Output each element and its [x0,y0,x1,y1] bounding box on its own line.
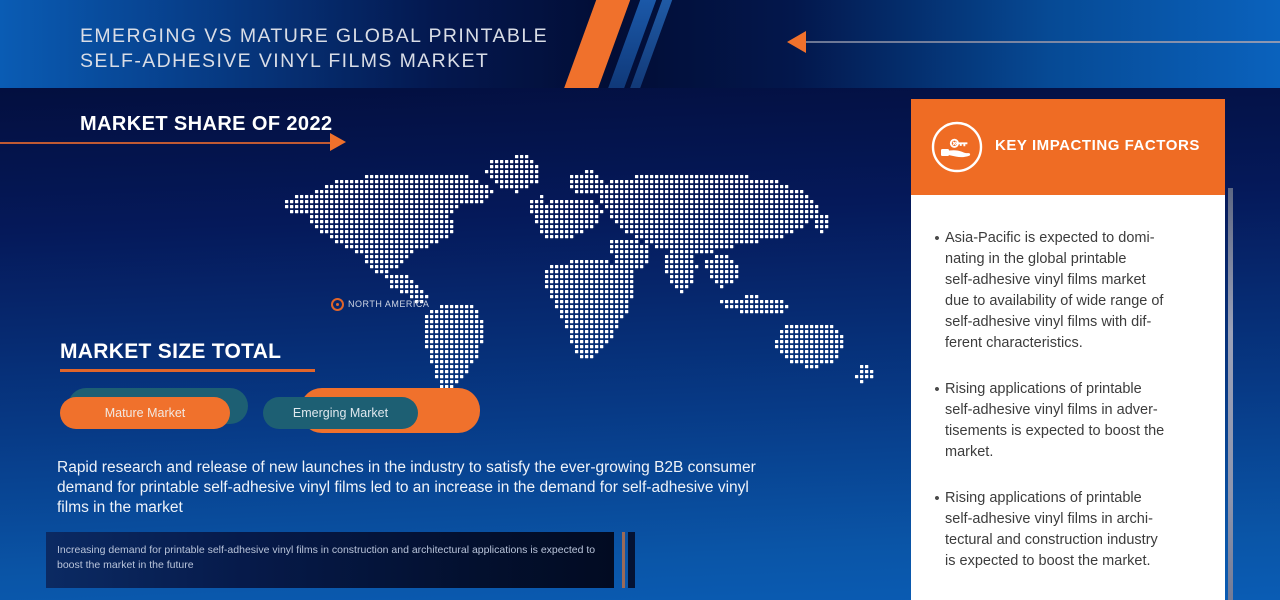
market-share-title: MARKET SHARE OF 2022 [80,113,333,136]
list-item-text: Rising applications of printable self-ad… [945,379,1205,463]
caption-edge-block [628,532,635,588]
world-map [278,148,888,398]
hand-holding-key-icon [930,120,984,174]
caption-text: Increasing demand for printable self-adh… [57,543,602,573]
key-factors-panel: • Asia-Pacific is expected to domi- nati… [911,195,1225,600]
market-size-rule [60,369,315,372]
header-band: EMERGING VS MATURE GLOBAL PRINTABLE SELF… [0,0,1280,88]
list-item-text: Rising applications of printable self-ad… [945,488,1205,572]
key-factors-header: KEY IMPACTING FACTORS [911,99,1225,195]
body-paragraph: Rapid research and release of new launch… [57,458,767,518]
map-marker-label: NORTH AMERICA [348,299,429,309]
bullet-icon: • [929,488,945,572]
location-target-icon [331,298,344,311]
key-factors-title: KEY IMPACTING FACTORS [995,137,1200,154]
bullet-icon: • [929,228,945,354]
market-share-rule [0,142,330,144]
list-item: • Rising applications of printable self-… [929,379,1205,463]
list-item: • Rising applications of printable self-… [929,488,1205,572]
list-item: • Asia-Pacific is expected to domi- nati… [929,228,1205,354]
panel-right-edge [1228,188,1233,600]
caption-accent-bar [622,532,625,588]
left-arrow-icon [787,31,806,53]
key-factors-list: • Asia-Pacific is expected to domi- nati… [911,195,1225,597]
legend-item-mature-market[interactable]: Mature Market [60,397,230,429]
header-arrow-line [805,41,1280,43]
market-size-title: MARKET SIZE TOTAL [60,340,281,364]
legend-item-emerging-market[interactable]: Emerging Market [263,397,418,429]
list-item-text: Asia-Pacific is expected to domi- nating… [945,228,1205,354]
bullet-icon: • [929,379,945,463]
page-title: EMERGING VS MATURE GLOBAL PRINTABLE SELF… [80,24,548,74]
infographic-slide: EMERGING VS MATURE GLOBAL PRINTABLE SELF… [0,0,1280,600]
legend-group: Mature Market Emerging Market [60,388,460,436]
